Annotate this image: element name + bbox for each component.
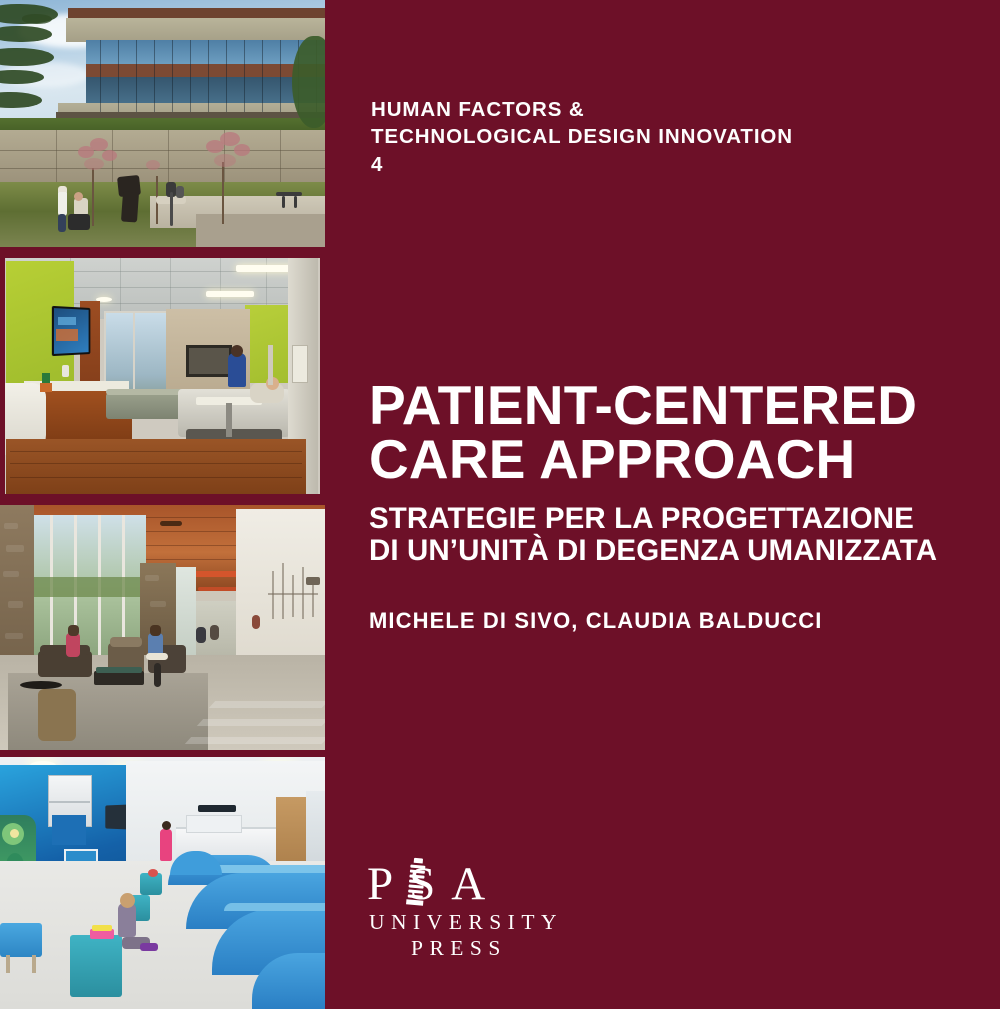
subtitle: STRATEGIE PER LA PROGETTAZIONE DI UN’UNI… <box>369 503 989 566</box>
cover-text-panel: HUMAN FACTORS & TECHNOLOGICAL DESIGN INN… <box>325 0 1000 1009</box>
title-line-1: PATIENT-CENTERED <box>369 378 969 432</box>
photo-divider <box>0 499 325 505</box>
photo-column <box>0 0 325 1009</box>
photo-patient-room <box>0 253 325 499</box>
series-line-2: TECHNOLOGICAL DESIGN INNOVATION <box>371 123 931 150</box>
photo-hospital-exterior <box>0 0 325 247</box>
subtitle-line-2: DI UN’UNITÀ DI DEGENZA UMANIZZATA <box>369 535 989 567</box>
publisher-university-text: UNIVERSITY <box>367 910 587 935</box>
book-cover: HUMAN FACTORS & TECHNOLOGICAL DESIGN INN… <box>0 0 1000 1009</box>
series-block: HUMAN FACTORS & TECHNOLOGICAL DESIGN INN… <box>371 96 931 178</box>
authors: MICHELE DI SIVO, CLAUDIA BALDUCCI <box>369 608 989 634</box>
series-line-1: HUMAN FACTORS & <box>371 96 931 123</box>
photo-divider <box>0 247 325 253</box>
wordmark-p: P <box>367 858 409 910</box>
title-line-2: CARE APPROACH <box>369 432 969 486</box>
photo-corridor-lounge <box>0 505 325 750</box>
publisher-press-text: PRESS <box>367 936 587 961</box>
page-title: PATIENT-CENTERED CARE APPROACH <box>369 378 969 487</box>
subtitle-line-1: STRATEGIE PER LA PROGETTAZIONE <box>369 503 989 535</box>
photo-pediatric-waiting <box>0 757 325 1009</box>
publisher-wordmark: PSA <box>367 860 587 908</box>
photo-divider <box>0 750 325 757</box>
series-number: 4 <box>371 151 931 178</box>
publisher-logo: PSA UNIVERSITY PRESS <box>367 860 587 961</box>
